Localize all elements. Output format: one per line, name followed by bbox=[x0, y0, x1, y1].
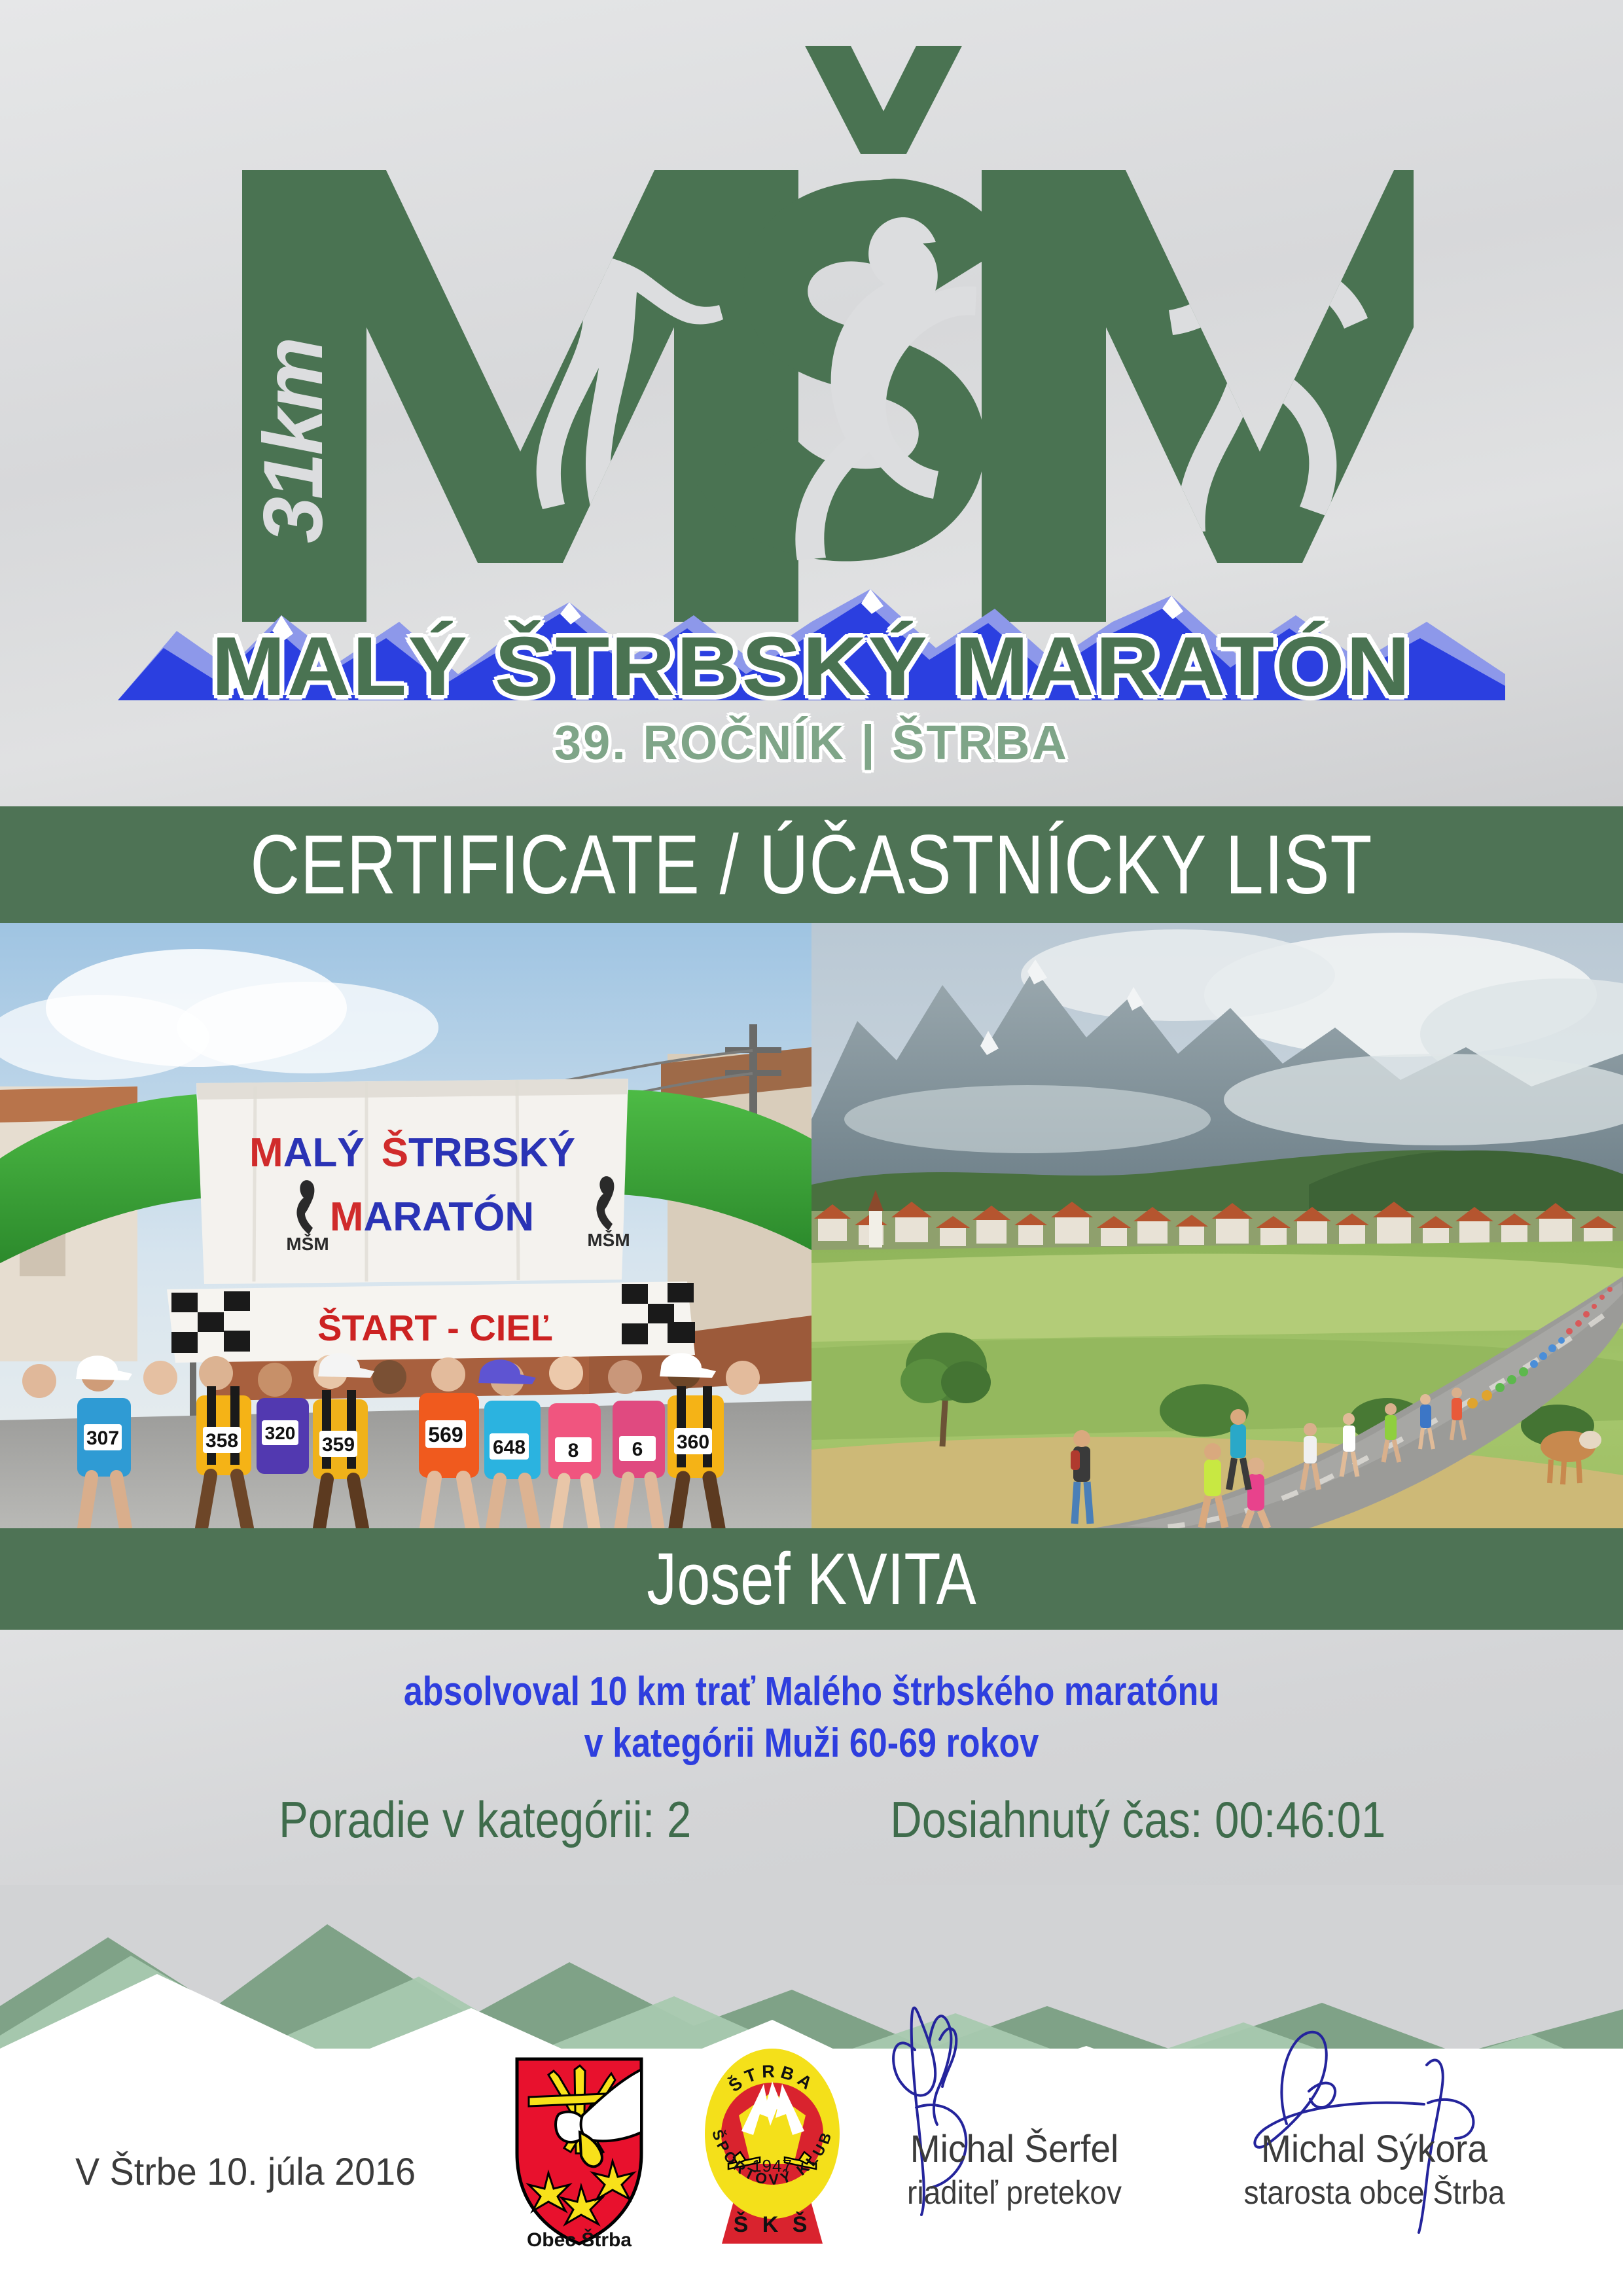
svg-text:648: 648 bbox=[493, 1437, 526, 1458]
signature-name: Michal Šerfel bbox=[853, 2127, 1176, 2171]
results-row: Poradie v kategórii: 2 Dosiahnutý čas: 0… bbox=[114, 1790, 1510, 1850]
signature-block-mayor: Michal Sýkora starosta obce Štrba bbox=[1204, 2127, 1544, 2212]
msm-letters-svg: 31km bbox=[223, 46, 1414, 622]
svg-text:8: 8 bbox=[568, 1440, 579, 1462]
svg-text:6: 6 bbox=[632, 1439, 643, 1460]
start-finish-text: ŠTART - CIEĽ bbox=[317, 1307, 553, 1348]
club-bottom-text: Š K Š bbox=[734, 2212, 811, 2237]
arch-text-line1: MALÝŠTRBSKÝ bbox=[249, 1130, 575, 1175]
svg-text:MŠM: MŠM bbox=[286, 1233, 329, 1254]
participant-name: Josef KVITA bbox=[647, 1537, 976, 1621]
letter-m-right: 10km bbox=[982, 170, 1414, 622]
participant-name-banner: Josef KVITA bbox=[0, 1528, 1623, 1630]
crest-label: Obec Štrba bbox=[527, 2229, 632, 2251]
photo-course-tatras bbox=[811, 923, 1623, 1528]
page-title: MALÝ ŠTRBSKÝ MARATÓN bbox=[0, 619, 1623, 715]
msm-logo: 31km bbox=[0, 26, 1623, 615]
svg-text:360: 360 bbox=[677, 1431, 709, 1453]
svg-text:10km: 10km bbox=[1405, 352, 1414, 563]
header-section: 31km bbox=[0, 0, 1623, 806]
svg-text:358: 358 bbox=[205, 1430, 238, 1452]
achievement-line-1: absolvoval 10 km trať Malého štrbského m… bbox=[130, 1666, 1493, 1717]
certificate-banner-label: CERTIFICATE / ÚČASTNÍCKY LIST bbox=[250, 817, 1372, 913]
signature-role: starosta obce Štrba bbox=[1218, 2174, 1531, 2212]
arch-text-line2: MARATÓN bbox=[330, 1194, 534, 1240]
achievement-description: absolvoval 10 km trať Malého štrbského m… bbox=[130, 1666, 1493, 1770]
issue-date: V Štrbe 10. júla 2016 bbox=[75, 2150, 416, 2194]
certificate-page: 31km bbox=[0, 0, 1623, 2296]
achievement-line-2: v kategórii Muži 60-69 rokov bbox=[130, 1717, 1493, 1769]
letter-m-left: 31km bbox=[242, 170, 798, 622]
photo-strip: MALÝŠTRBSKÝ MARATÓN MŠM MŠM bbox=[0, 923, 1623, 1528]
photo-race-start: MALÝŠTRBSKÝ MARATÓN MŠM MŠM bbox=[0, 923, 811, 1528]
signature-block-director: Michal Šerfel riaditeľ pretekov bbox=[844, 2127, 1185, 2212]
category-rank: Poradie v kategórii: 2 bbox=[158, 1790, 811, 1850]
svg-text:320: 320 bbox=[265, 1423, 296, 1443]
signature-name: Michal Sýkora bbox=[1213, 2127, 1536, 2171]
finish-time: Dosiahnutý čas: 00:46:01 bbox=[811, 1790, 1465, 1850]
svg-text:569: 569 bbox=[428, 1423, 463, 1446]
obec-strba-crest-icon: Obec Štrba bbox=[510, 2055, 648, 2251]
signature-role: riaditeľ pretekov bbox=[858, 2174, 1171, 2212]
sks-club-logo-icon: 1947 ŠTRBA ŠPORTOVÝ KLUB Š K Š bbox=[697, 2036, 847, 2251]
svg-text:MŠM: MŠM bbox=[587, 1229, 630, 1250]
svg-text:31km: 31km bbox=[247, 340, 340, 543]
svg-text:307: 307 bbox=[86, 1427, 119, 1449]
page-subtitle: 39. ROČNÍK | ŠTRBA bbox=[0, 715, 1623, 770]
svg-text:359: 359 bbox=[322, 1434, 355, 1456]
certificate-banner: CERTIFICATE / ÚČASTNÍCKY LIST bbox=[0, 806, 1623, 923]
caron-accent bbox=[805, 46, 962, 154]
